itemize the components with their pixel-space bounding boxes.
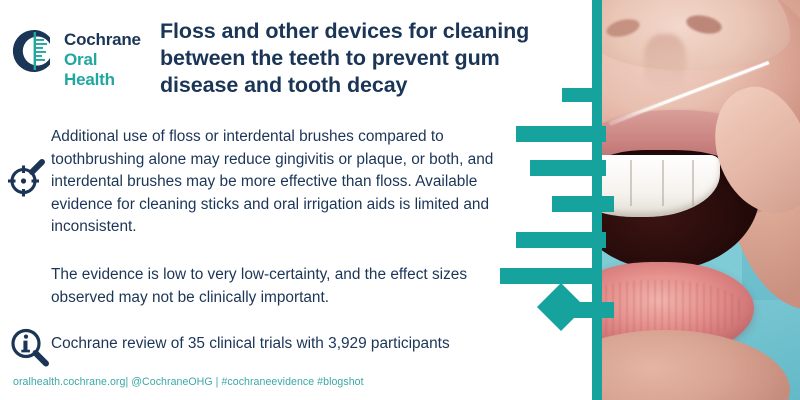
cochrane-logo-text: Cochrane Oral Health	[64, 30, 152, 90]
page-title: Floss and other devices for cleaning bet…	[160, 18, 560, 99]
target-magnifier-icon	[6, 158, 48, 198]
forest-plot-diamond	[537, 283, 585, 331]
forest-plot-bar	[552, 196, 614, 212]
key-findings-paragraph: Additional use of floss or interdental b…	[51, 126, 521, 239]
info-magnifier-icon	[8, 326, 52, 368]
tooth-seam	[692, 160, 694, 206]
review-summary-text: Cochrane review of 35 clinical trials wi…	[51, 333, 551, 355]
philtrum-shadow	[644, 34, 686, 90]
brand-name-line2: Oral Health	[64, 50, 152, 90]
nose-region	[600, 0, 790, 70]
tooth-seam	[662, 160, 664, 206]
infographic-canvas: Cochrane Oral Health Floss and other dev…	[0, 0, 800, 400]
forest-plot-spine	[592, 0, 602, 400]
tooth-seam	[630, 160, 632, 206]
certainty-paragraph: The evidence is low to very low-certaint…	[51, 264, 521, 309]
forest-plot-bar	[562, 88, 592, 102]
mouth-flossing-photo	[600, 0, 800, 400]
footer-links[interactable]: oralhealth.cochrane.org| @CochraneOHG | …	[13, 375, 533, 389]
cochrane-logo[interactable]: Cochrane Oral Health	[12, 28, 152, 76]
brand-name-line1: Cochrane	[64, 30, 152, 50]
cochrane-logo-icon	[12, 28, 58, 74]
